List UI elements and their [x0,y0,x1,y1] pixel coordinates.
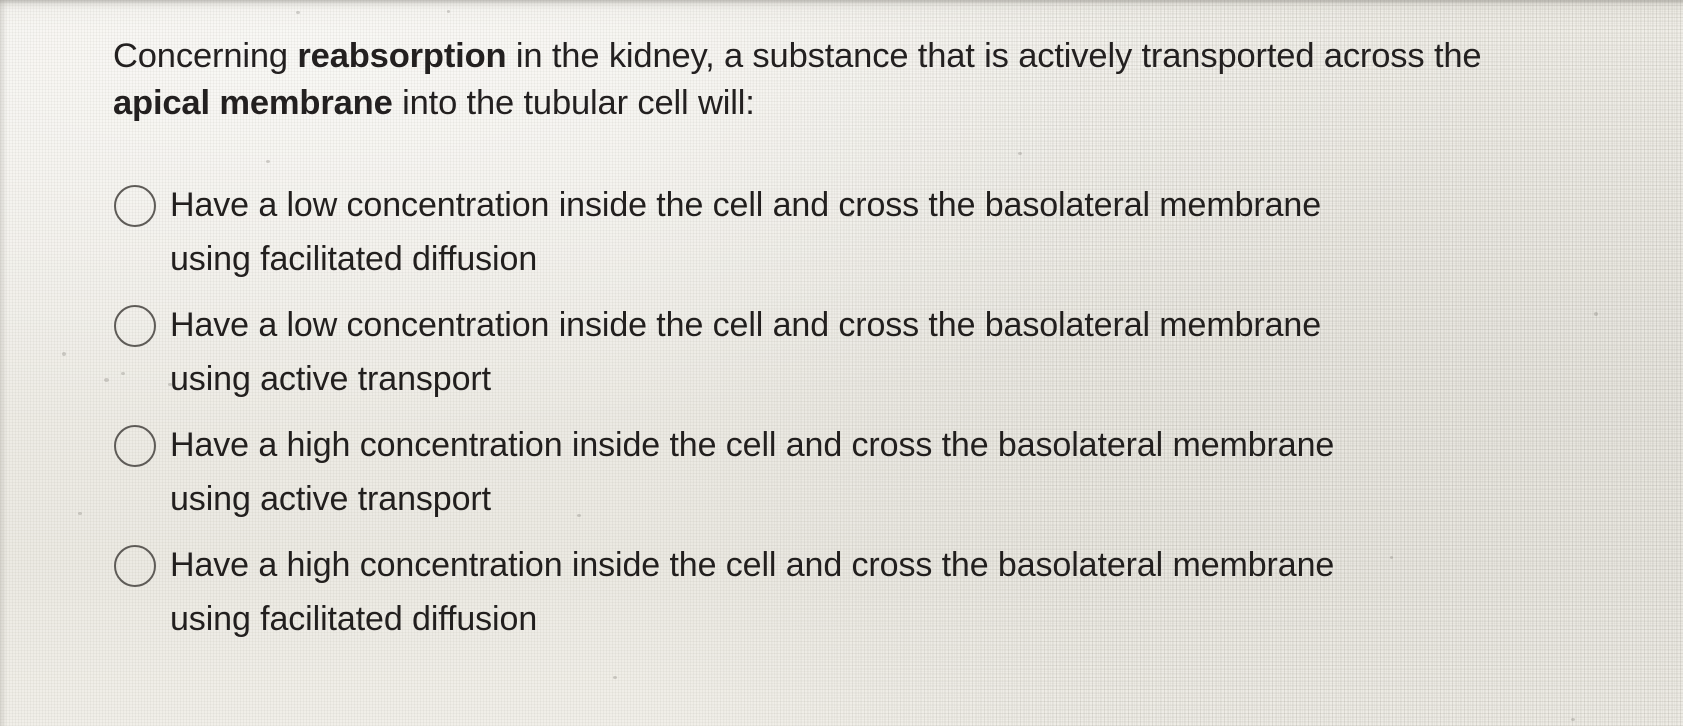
question-fragment: in the kidney, a substance that is activ… [506,37,1481,75]
question-content: Concerning reabsorption in the kidney, a… [0,0,1683,726]
answer-option-label: Have a low concentration inside the cell… [170,298,1500,406]
question-fragment: into the tubular cell will: [393,84,755,122]
answer-option-label: Have a high concentration inside the cel… [170,538,1500,646]
dust-speck [168,383,172,386]
dust-speck [577,514,581,517]
question-emphasis: apical membrane [113,84,393,122]
radio-button-icon[interactable] [114,185,156,227]
answer-option-label: Have a low concentration inside the cell… [170,178,1500,286]
radio-button-icon[interactable] [114,305,156,347]
answer-option-b[interactable]: Have a low concentration inside the cell… [0,298,1683,418]
dust-speck [121,372,125,375]
dust-speck [1018,152,1022,155]
dust-speck [1390,556,1393,559]
dust-speck [447,10,450,13]
answer-option-a[interactable]: Have a low concentration inside the cell… [0,178,1683,298]
dust-speck [62,352,66,356]
answer-option-d[interactable]: Have a high concentration inside the cel… [0,538,1683,658]
dust-speck [613,676,617,679]
dust-speck [104,378,109,382]
answer-option-label: Have a high concentration inside the cel… [170,418,1500,526]
dust-speck [1571,718,1575,721]
radio-button-icon[interactable] [114,545,156,587]
question-emphasis: reabsorption [297,37,506,75]
question-text: Concerning reabsorption in the kidney, a… [113,33,1513,127]
radio-button-icon[interactable] [114,425,156,467]
answer-option-line: using active transport [170,352,1500,406]
dust-speck [1594,312,1598,316]
answer-options-list: Have a low concentration inside the cell… [0,178,1683,658]
dust-speck [78,512,82,515]
answer-option-line: Have a high concentration inside the cel… [170,538,1500,592]
answer-option-line: using facilitated diffusion [170,592,1500,646]
answer-option-c[interactable]: Have a high concentration inside the cel… [0,418,1683,538]
answer-option-line: using active transport [170,472,1500,526]
dust-speck [849,214,852,217]
answer-option-line: using facilitated diffusion [170,232,1500,286]
dust-speck [296,11,300,14]
answer-option-line: Have a high concentration inside the cel… [170,418,1500,472]
answer-option-line: Have a low concentration inside the cell… [170,298,1500,352]
question-fragment: Concerning [113,37,297,75]
answer-option-line: Have a low concentration inside the cell… [170,178,1500,232]
dust-speck [266,160,270,163]
